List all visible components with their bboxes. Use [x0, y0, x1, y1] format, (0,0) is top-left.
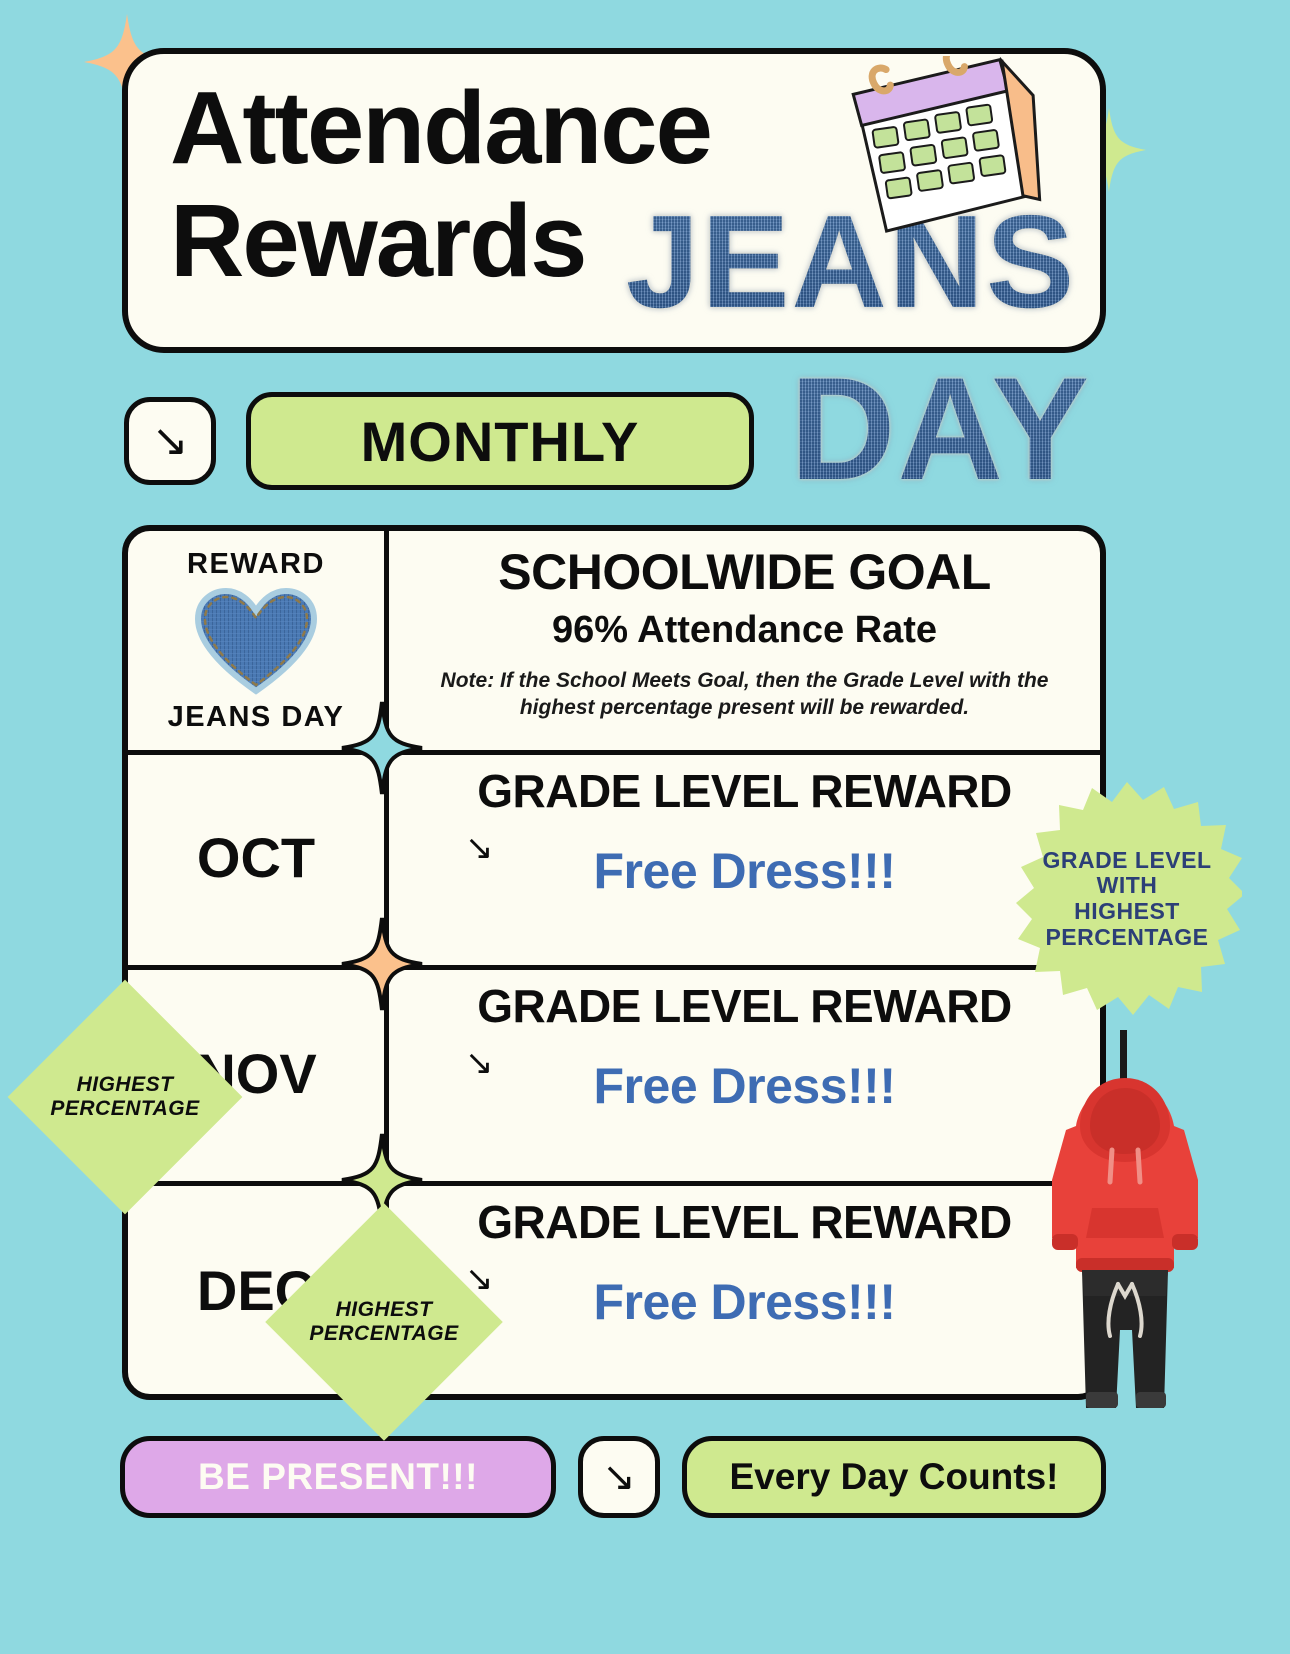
reward-label-bottom: JEANS DAY	[168, 701, 345, 734]
grade-reward-title-dec: GRADE LEVEL REWARD	[389, 1195, 1100, 1249]
poster-canvas: Attendance Rewards JEANS DAY	[0, 0, 1290, 1654]
reward-label-top: REWARD	[187, 548, 325, 581]
arrow-down-right-icon-oct: ↘	[465, 828, 494, 868]
calendar-icon	[846, 56, 1046, 246]
monthly-label: MONTHLY	[361, 409, 640, 474]
monthly-arrow-box: ↘	[124, 397, 216, 485]
diamond-text-dec: HIGHEST PERCENTAGE	[300, 1238, 468, 1406]
grade-reward-cell-nov: GRADE LEVEL REWARD ↘ Free Dress!!!	[389, 965, 1100, 1181]
page-title-line1: Attendance	[170, 76, 711, 179]
arrow-down-right-icon-footer: ↘	[602, 1457, 636, 1497]
be-present-label: BE PRESENT!!!	[198, 1456, 478, 1498]
grade-reward-cell-oct: GRADE LEVEL REWARD ↘ Free Dress!!!	[389, 750, 1100, 965]
be-present-badge: BE PRESENT!!!	[120, 1436, 556, 1518]
rewards-table: REWARD JEANS DAY SCHOOLWIDE GOAL 96% Att…	[122, 525, 1106, 1400]
starburst-text: GRADE LEVEL WITH HIGHEST PERCENTAGE	[1037, 848, 1217, 951]
grade-reward-cell-dec: GRADE LEVEL REWARD ↘ Free Dress!!!	[389, 1181, 1100, 1400]
hoodie-and-sweatpants-icon	[1040, 1030, 1210, 1410]
starburst-line2: WITH	[1037, 873, 1217, 899]
goal-title: SCHOOLWIDE GOAL	[389, 543, 1100, 601]
every-day-counts-badge: Every Day Counts!	[682, 1436, 1106, 1518]
arrow-down-right-icon-nov: ↘	[465, 1043, 494, 1083]
grade-reward-title-oct: GRADE LEVEL REWARD	[389, 764, 1100, 818]
page-title-line2: Rewards	[170, 189, 585, 292]
grade-reward-title-nov: GRADE LEVEL REWARD	[389, 979, 1100, 1033]
grade-reward-value-oct: Free Dress!!!	[389, 842, 1100, 900]
grade-reward-value-nov: Free Dress!!!	[389, 1057, 1100, 1115]
diamond-badge-nov: HIGHEST PERCENTAGE	[42, 1014, 208, 1180]
starburst-line3: HIGHEST	[1037, 899, 1217, 925]
goal-subtitle: 96% Attendance Rate	[389, 609, 1100, 652]
footer-arrow-box: ↘	[578, 1436, 660, 1518]
month-label-oct: OCT	[197, 825, 315, 890]
starburst-badge: GRADE LEVEL WITH HIGHEST PERCENTAGE	[1012, 778, 1242, 1020]
starburst-line4: PERCENTAGE	[1037, 925, 1217, 951]
sparkle-cyan-divider-icon	[340, 700, 424, 796]
sparkle-orange-divider-icon	[340, 916, 424, 1012]
denim-heart-icon	[192, 585, 320, 697]
monthly-badge: MONTHLY	[246, 392, 754, 490]
every-day-counts-label: Every Day Counts!	[730, 1456, 1059, 1498]
diamond-text-nov: HIGHEST PERCENTAGE	[42, 1014, 208, 1180]
denim-word-day: DAY	[790, 356, 1091, 502]
goal-note: Note: If the School Meets Goal, then the…	[431, 668, 1058, 722]
diamond-badge-dec: HIGHEST PERCENTAGE	[300, 1238, 468, 1406]
arrow-down-right-icon: ↘	[152, 419, 189, 463]
starburst-line1: GRADE LEVEL	[1037, 848, 1217, 874]
schoolwide-goal-cell: SCHOOLWIDE GOAL 96% Attendance Rate Note…	[389, 531, 1100, 750]
